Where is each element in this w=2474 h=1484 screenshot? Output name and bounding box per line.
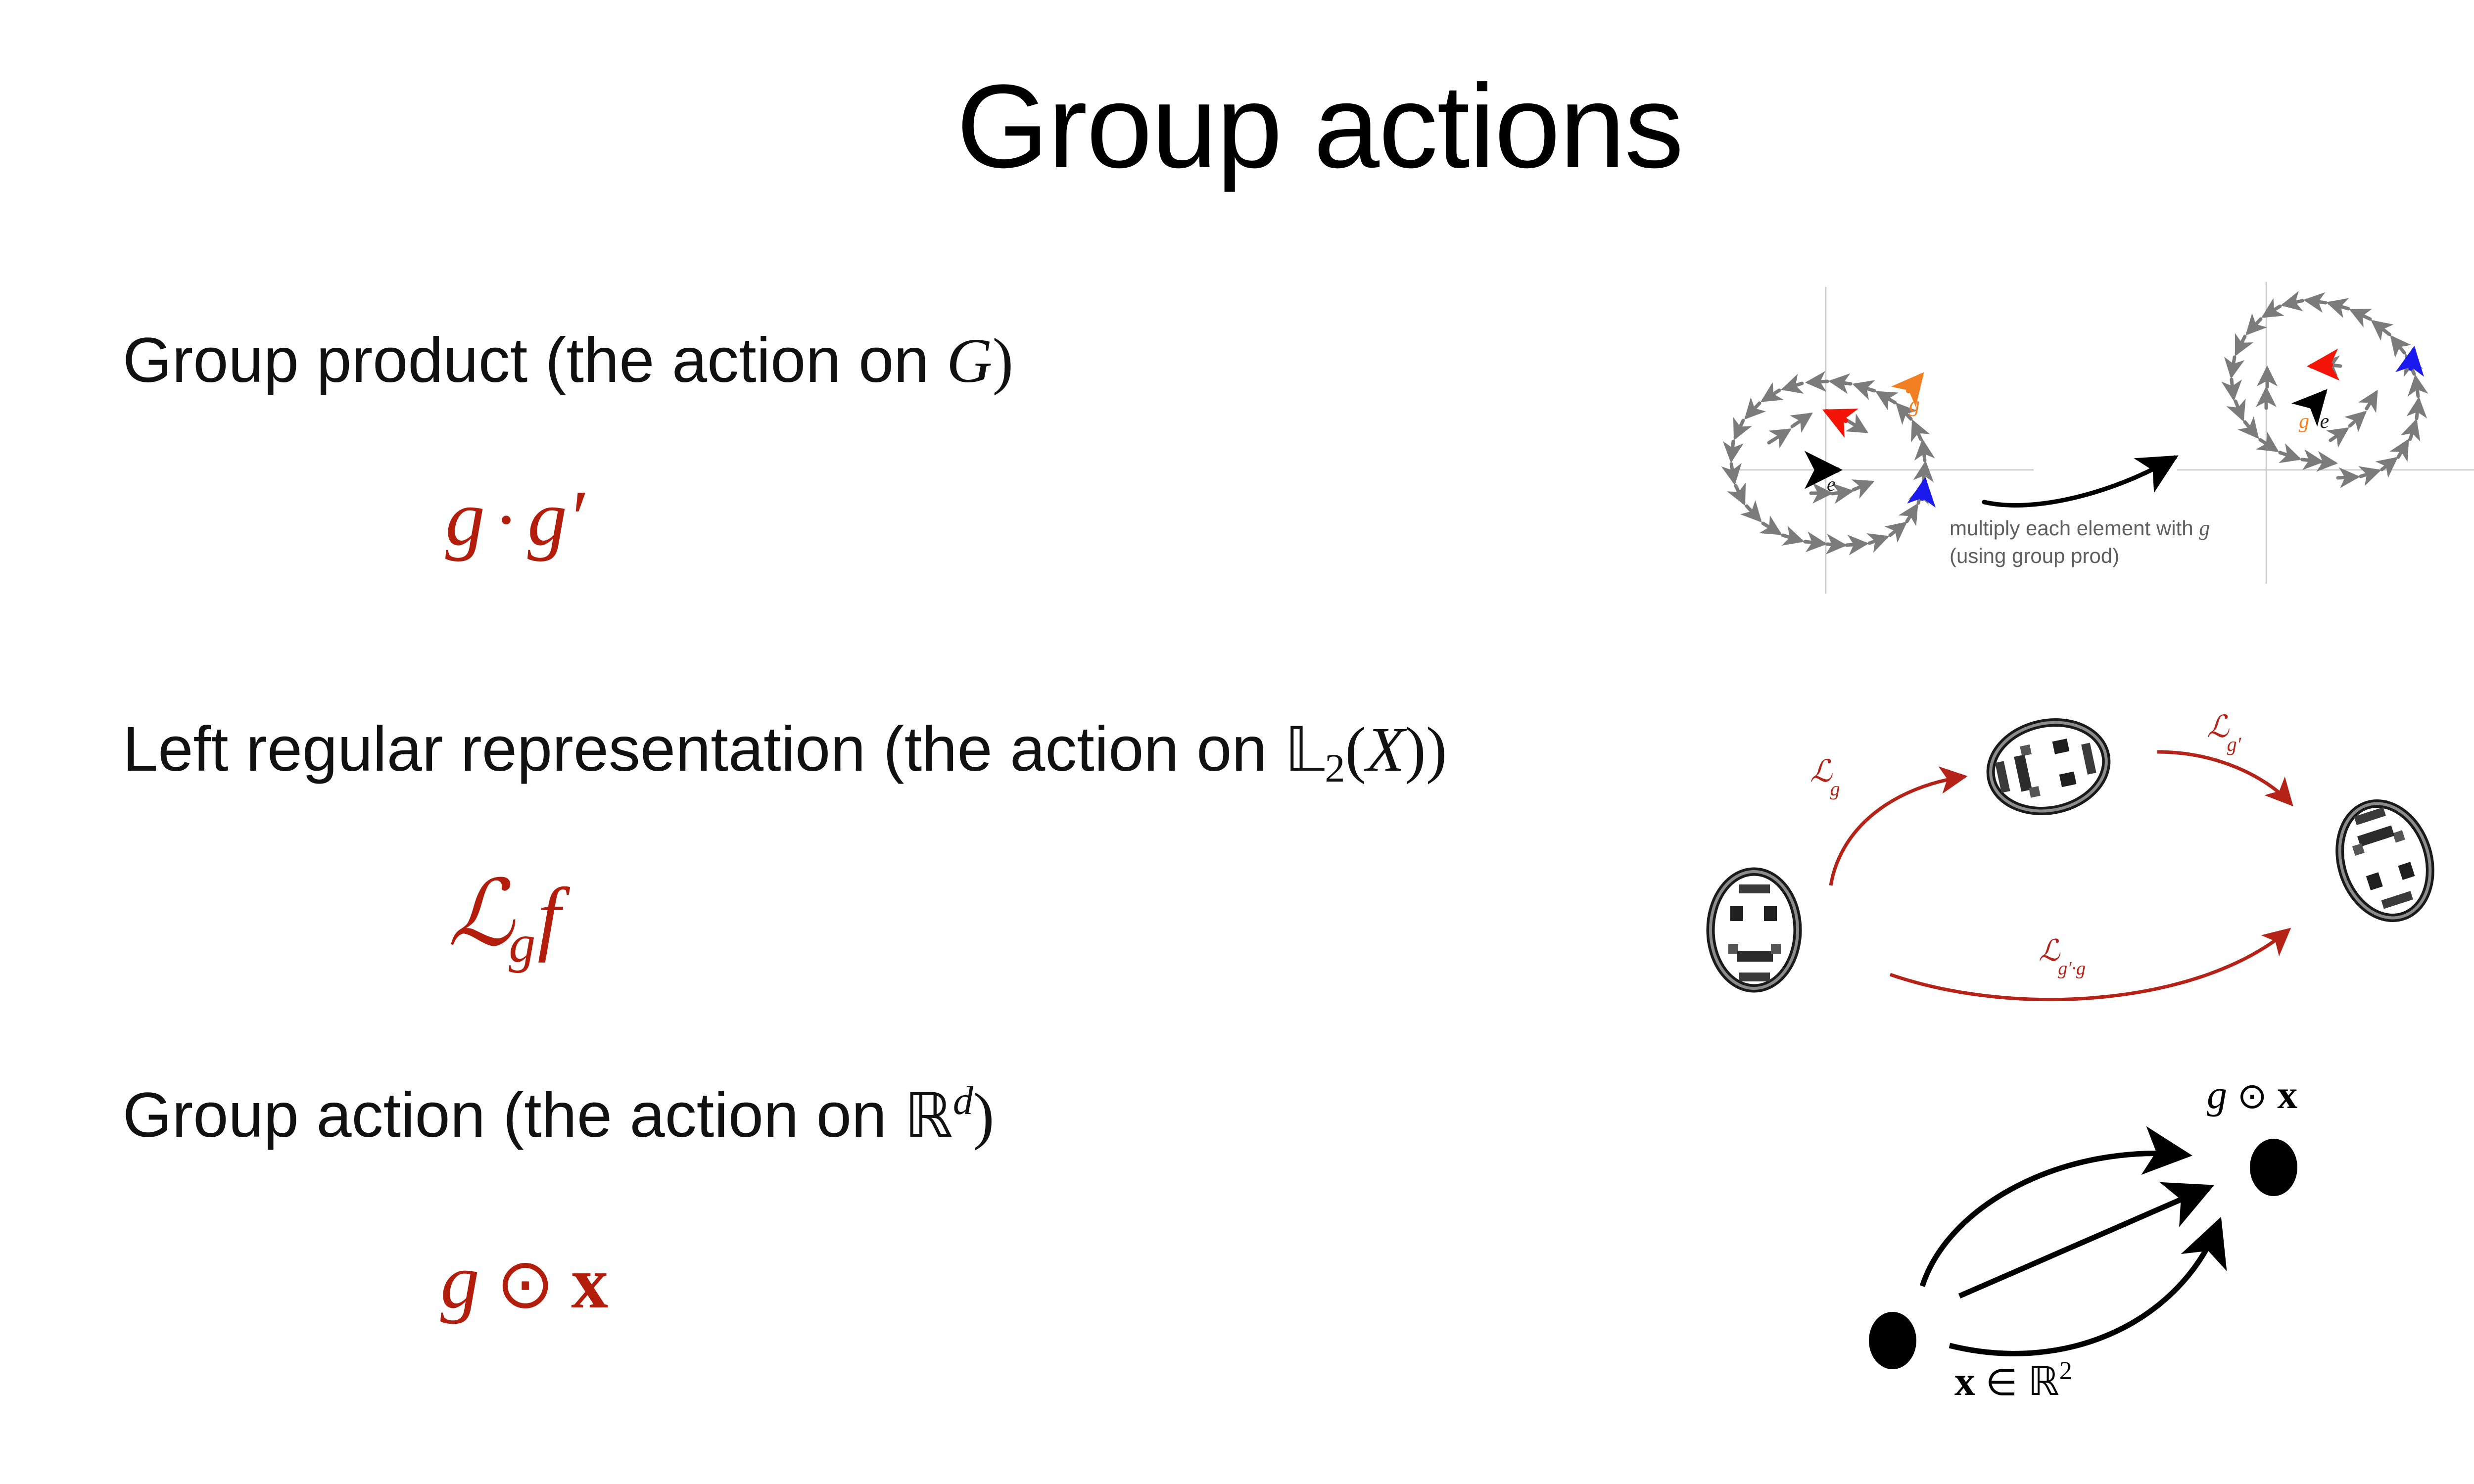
formula-group-product: g·g′ (445, 472, 584, 564)
operator-label-lgprimeg: ℒg′·g (2039, 933, 2086, 979)
formula-3-left: g (440, 1238, 479, 1325)
formula-1-left: g (445, 474, 485, 562)
left-circle-red-arrow (1827, 412, 1846, 420)
bullet-2-close-paren: ) (1405, 714, 1426, 785)
bullet-2-suffix: ) (1426, 714, 1447, 785)
operator-label-lg: ℒg (1810, 753, 1840, 800)
formula-2-subscript: g (509, 915, 535, 974)
bullet-3-symbol-R: ℝ (904, 1080, 953, 1152)
group-element-arrow (1908, 376, 1921, 391)
circled-dot-icon: ⊙ (479, 1244, 571, 1324)
operator-label-lgprime: ℒg′ (2207, 708, 2242, 755)
action-arrow-middle (1959, 1187, 2209, 1296)
operator-arrow-lgprimeg (1890, 930, 2288, 1000)
bullet-1-prefix: Group product (the action on (123, 325, 947, 396)
bullet-3-suffix: ) (973, 1080, 995, 1151)
slide-canvas: Group actions Group product (the action … (0, 0, 2474, 1484)
smiley-face-transformed-gprime-g (2326, 792, 2444, 930)
formula-3-right: x (571, 1242, 608, 1324)
operator-arrow-lgprime (2157, 752, 2291, 804)
source-point (1869, 1312, 1916, 1369)
bullet-2-symbol-L: 𝕃 (1285, 714, 1325, 786)
page-title: Group actions (0, 67, 2474, 185)
figure-caption-line-1: multiply each element with g (1950, 516, 2210, 540)
figure-left-regular-representation: ℒg ℒg′ ℒg′·g (1682, 663, 2474, 1019)
smiley-face-original (1711, 872, 1798, 988)
bullet-2-argument-X: X (1366, 714, 1405, 785)
ge-arrow (2312, 393, 2324, 407)
bullet-1-symbol-G: G (947, 325, 992, 396)
action-arrow-upper (1922, 1154, 2187, 1286)
figure-group-action-points: x ∈ ℝ2 g ⊙ x (1791, 1054, 2474, 1439)
source-label: x ∈ ℝ2 (1954, 1357, 2072, 1404)
left-group-circle (1731, 381, 1925, 545)
identity-label: e (1827, 473, 1836, 495)
formula-2-script-l: ℒ (448, 860, 514, 967)
ge-label-g: g (2299, 410, 2309, 433)
formula-group-action: g⊙x (440, 1237, 608, 1327)
bullet-1-suffix: ) (992, 325, 1013, 396)
formula-2-function: f (537, 871, 561, 963)
formula-1-right: g (527, 474, 567, 562)
left-circle-blue-arrow (1922, 481, 1925, 499)
target-label: g ⊙ x (2207, 1072, 2297, 1117)
right-circle-blue-arrow (2411, 350, 2414, 369)
formula-1-operator: · (485, 479, 527, 561)
left-face-arrows (1769, 415, 1871, 494)
formula-1-prime: ′ (567, 474, 584, 562)
bullet-group-action: Group action (the action on ℝd) (123, 1079, 994, 1149)
bullet-2-prefix: Left regular representation (the action … (123, 714, 1285, 785)
bullet-left-regular-representation: Left regular representation (the action … (123, 716, 1447, 789)
right-circle-red-arrow (2312, 365, 2331, 366)
transition-arrow (1984, 458, 2175, 505)
right-group-circle (2232, 300, 2419, 478)
axis-lines-right (2177, 282, 2474, 584)
target-point (2250, 1139, 2297, 1196)
formula-left-regular: ℒgf (448, 860, 561, 975)
group-element-label: g (1909, 392, 1920, 417)
smiley-face-transformed-g (1982, 712, 2114, 821)
bullet-2-open-paren: ( (1345, 714, 1366, 785)
figure-caption-line-2: (using group prod) (1950, 544, 2119, 567)
ge-label-dot-e: ·e (2315, 410, 2329, 433)
operator-arrow-lg (1831, 777, 1964, 885)
bullet-3-superscript: d (953, 1078, 973, 1123)
bullet-group-product: Group product (the action on G) (123, 327, 1013, 394)
figure-group-product: e g (1687, 277, 2474, 603)
bullet-3-prefix: Group action (the action on (123, 1080, 904, 1151)
bullet-2-subscript: 2 (1325, 745, 1345, 790)
